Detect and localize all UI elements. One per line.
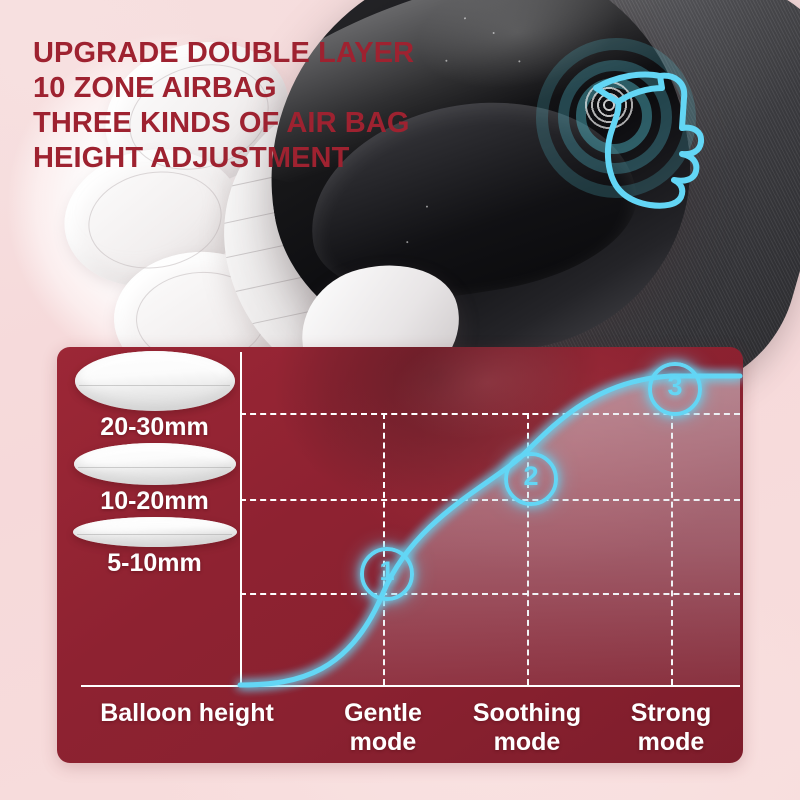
- headline-line-4: HEIGHT ADJUSTMENT: [33, 141, 503, 176]
- x-label-soothing-line1: Soothing: [457, 699, 597, 728]
- x-label-strong-line1: Strong: [613, 699, 729, 728]
- headline-line-2: 10 ZONE AIRBAG: [33, 71, 503, 106]
- chart-panel: 20-30mm 10-20mm 5-10mm: [57, 347, 743, 763]
- x-label-gentle-mode: Gentle mode: [327, 699, 439, 757]
- curve-marker-2: 2: [504, 452, 558, 506]
- pointing-hand-icon: [524, 32, 744, 222]
- x-label-strong-mode: Strong mode: [613, 699, 729, 757]
- balloon-medium-icon: [74, 443, 236, 485]
- balloon-legend: 20-30mm 10-20mm 5-10mm: [67, 351, 242, 579]
- x-label-soothing-line2: mode: [457, 728, 597, 757]
- promo-image: UPGRADE DOUBLE LAYER 10 ZONE AIRBAG THRE…: [0, 0, 800, 800]
- touch-gesture-indicator: [524, 32, 744, 222]
- legend-label-large: 20-30mm: [67, 412, 242, 443]
- headline-line-3: THREE KINDS OF AIR BAG: [33, 106, 503, 141]
- balloon-small-icon: [73, 517, 237, 547]
- x-label-gentle-line2: mode: [327, 728, 439, 757]
- x-label-balloon-height: Balloon height: [77, 699, 297, 728]
- balloon-large-icon: [75, 351, 235, 411]
- curve-marker-3: 3: [648, 362, 702, 416]
- headline: UPGRADE DOUBLE LAYER 10 ZONE AIRBAG THRE…: [33, 36, 503, 176]
- x-label-strong-line2: mode: [613, 728, 729, 757]
- legend-item-large: 20-30mm: [67, 351, 242, 443]
- legend-item-small: 5-10mm: [67, 517, 242, 579]
- legend-label-medium: 10-20mm: [67, 486, 242, 517]
- curve-area-fill: [240, 376, 740, 685]
- x-axis-labels: Balloon height Gentle mode Soothing mode…: [57, 697, 743, 763]
- curve-marker-1: 1: [360, 547, 414, 601]
- x-label-soothing-mode: Soothing mode: [457, 699, 597, 757]
- headline-line-1: UPGRADE DOUBLE LAYER: [33, 36, 503, 71]
- x-label-gentle-line1: Gentle: [327, 699, 439, 728]
- legend-label-small: 5-10mm: [67, 548, 242, 579]
- legend-item-medium: 10-20mm: [67, 443, 242, 517]
